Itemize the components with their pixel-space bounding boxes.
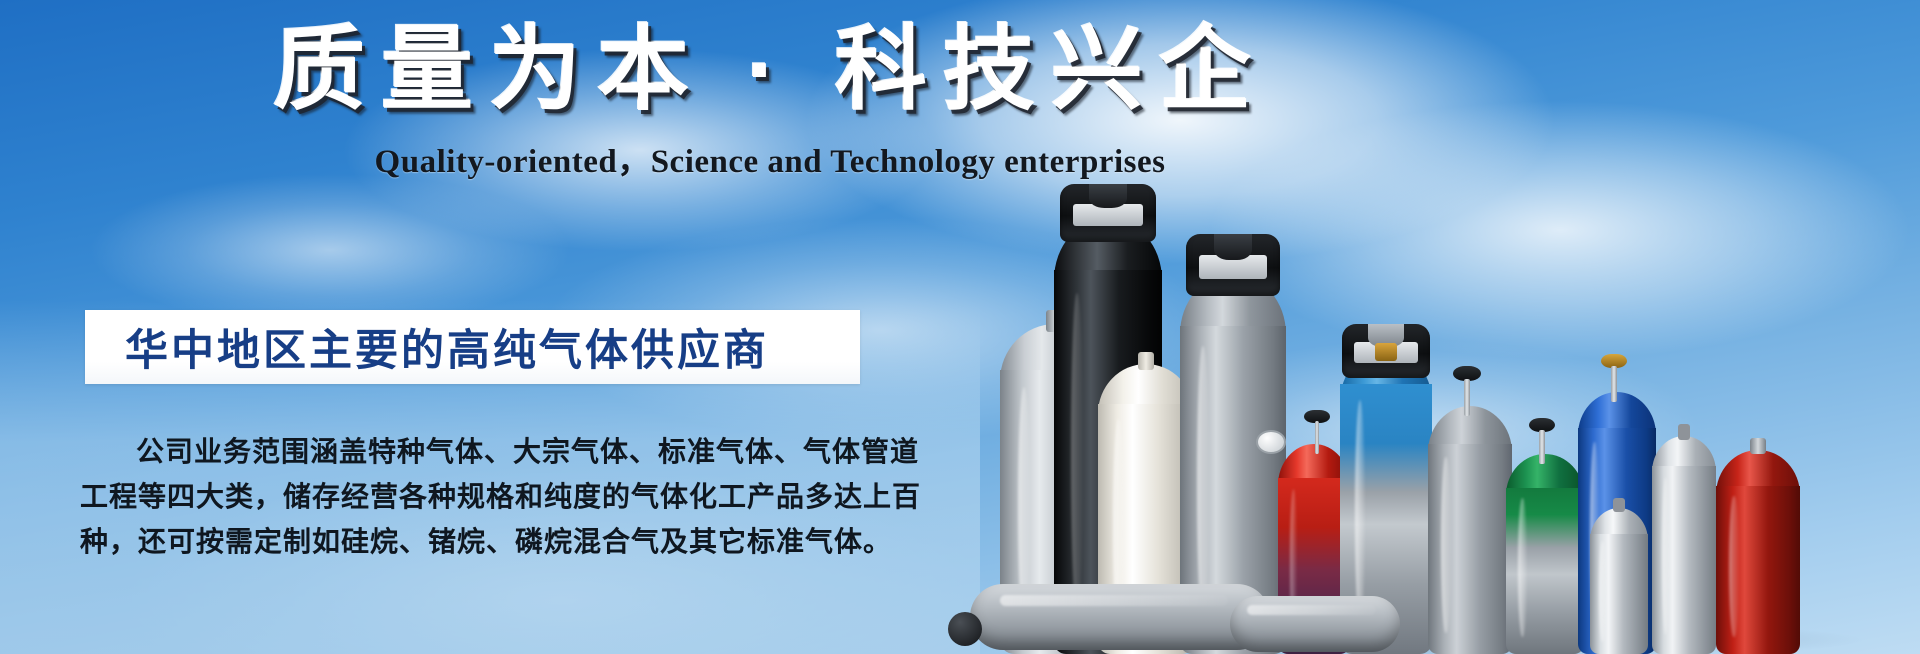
cylinder-valve-cap (1186, 234, 1280, 296)
gas-cylinder-group-photo (930, 120, 1920, 654)
cylinder-highlight (1197, 346, 1209, 622)
cylinder-highlight (1662, 477, 1669, 635)
description-paragraph: 公司业务范围涵盖特种气体、大宗气体、标准气体、气体管道 工程等四大类，储存经营各… (80, 430, 870, 565)
page-subtitle: Quality-oriented，Science and Technology … (0, 134, 1540, 182)
cylinder-body (1590, 534, 1648, 654)
promotional-banner: 质量为本 · 科技兴企 Quality-oriented，Science and… (0, 0, 1920, 654)
cylinder-valve-cap (1060, 184, 1156, 242)
cylinder-neck (1613, 498, 1625, 512)
cylinder-red (1716, 450, 1800, 654)
horizontal-gas-tank-small (1230, 596, 1400, 652)
tank-valve-knob (948, 612, 982, 646)
cap-notch (1089, 184, 1127, 208)
horizontal-gas-tank (970, 584, 1270, 650)
valve-brass-body (1375, 343, 1397, 361)
cylinder-body (1506, 488, 1584, 654)
cylinder-aluminium-tall (1652, 436, 1716, 654)
tank-highlight (1247, 605, 1376, 615)
cylinder-highlight (1518, 498, 1527, 637)
tagline-strap: 华中地区主要的高纯气体供应商 (85, 310, 860, 384)
paragraph-line: 种，还可按需定制如硅烷、锗烷、磷烷混合气及其它标准气体。 (80, 520, 870, 565)
cap-notch (1214, 234, 1252, 260)
valve-stem (1464, 379, 1469, 416)
page-title: 质量为本 · 科技兴企 (0, 22, 1540, 119)
cylinder-highlight (1729, 496, 1738, 637)
tagline-text: 华中地区主要的高纯气体供应商 (125, 316, 769, 378)
cylinder-valve (1450, 366, 1484, 416)
cylinder-highlight (1355, 400, 1365, 627)
cylinder-highlight (1599, 541, 1605, 642)
cylinder-valve (1598, 354, 1630, 402)
cylinder-body (1652, 466, 1716, 654)
cylinder-valve (1302, 410, 1332, 454)
pressure-gauge (1256, 430, 1286, 454)
cylinder-valve (1526, 418, 1558, 464)
cylinder-green (1506, 454, 1584, 654)
cylinder-neck (1750, 438, 1767, 454)
brass-valve (1368, 340, 1404, 372)
cylinder-neck (1678, 424, 1691, 440)
cylinder-body (1716, 486, 1800, 654)
valve-stem (1315, 421, 1320, 454)
paragraph-line: 公司业务范围涵盖特种气体、大宗气体、标准气体、气体管道 (80, 430, 870, 475)
cylinder-grey-mid (1428, 406, 1512, 654)
cylinder-highlight (1071, 293, 1083, 616)
cylinder-highlight (1441, 457, 1450, 633)
cylinder-neck (1138, 352, 1153, 370)
cylinder-aluminium-small (1590, 508, 1648, 654)
valve-stem (1539, 430, 1544, 464)
valve-stem (1611, 366, 1616, 402)
paragraph-line: 工程等四大类，储存经营各种规格和纯度的气体化工产品多达上百 (80, 475, 870, 520)
cylinder-body (1428, 444, 1512, 654)
tank-highlight (1000, 595, 1228, 607)
